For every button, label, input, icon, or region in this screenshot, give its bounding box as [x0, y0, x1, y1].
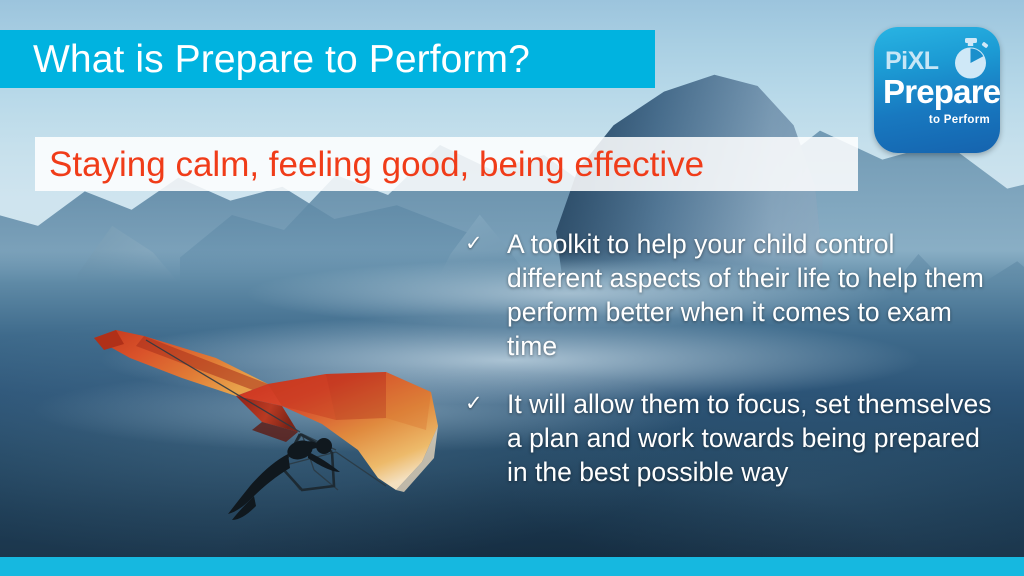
list-item: ✓ A toolkit to help your child control d… — [465, 227, 995, 363]
page-title: What is Prepare to Perform? — [0, 40, 530, 79]
list-item: ✓ It will allow them to focus, set thems… — [465, 387, 995, 489]
hang-glider-icon — [86, 300, 486, 530]
bullet-list: ✓ A toolkit to help your child control d… — [465, 227, 995, 513]
bottom-accent-bar — [0, 557, 1024, 576]
checkmark-icon: ✓ — [465, 227, 507, 261]
logo-brand-text: PiXL — [885, 49, 939, 74]
checkmark-icon: ✓ — [465, 387, 507, 421]
subtitle-text: Staying calm, feeling good, being effect… — [35, 147, 704, 182]
subtitle-band: Staying calm, feeling good, being effect… — [35, 137, 858, 191]
list-item-text: A toolkit to help your child control dif… — [507, 227, 995, 363]
slide-canvas: What is Prepare to Perform? Staying calm… — [0, 0, 1024, 576]
logo-tagline-text: to Perform — [929, 115, 990, 127]
list-item-text: It will allow them to focus, set themsel… — [507, 387, 995, 489]
logo-product-text: Prepare — [883, 75, 1000, 108]
title-banner: What is Prepare to Perform? — [0, 30, 655, 88]
pixl-prepare-logo: PiXL Prepare to Perform — [874, 27, 1000, 153]
